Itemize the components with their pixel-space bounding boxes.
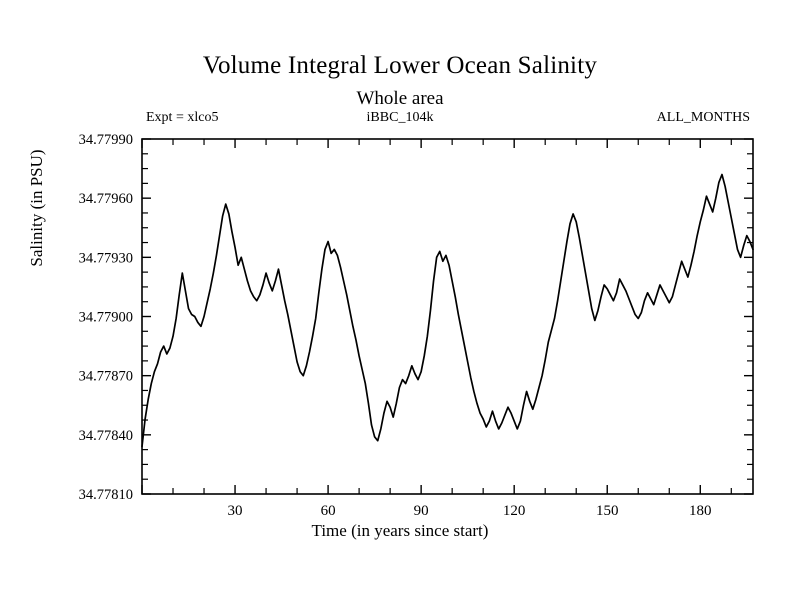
x-tick-label: 120 bbox=[503, 503, 526, 519]
x-tick-label: 180 bbox=[689, 503, 712, 519]
y-tick-label: 34.77810 bbox=[79, 487, 133, 503]
y-tick-marks bbox=[142, 139, 753, 494]
x-tick-label: 30 bbox=[228, 503, 243, 519]
plot-page: Volume Integral Lower Ocean Salinity Who… bbox=[0, 0, 800, 600]
y-tick-labels: 34.7781034.7784034.7787034.7790034.77930… bbox=[79, 132, 133, 503]
y-tick-label: 34.77870 bbox=[79, 369, 133, 385]
x-tick-labels: 306090120150180 bbox=[228, 503, 712, 519]
x-tick-label: 90 bbox=[414, 503, 429, 519]
y-tick-label: 34.77840 bbox=[79, 428, 133, 444]
y-tick-label: 34.77900 bbox=[79, 310, 133, 326]
y-tick-label: 34.77960 bbox=[79, 191, 133, 207]
x-tick-marks bbox=[142, 139, 731, 494]
y-tick-label: 34.77990 bbox=[79, 132, 133, 148]
plot-frame bbox=[142, 139, 753, 494]
x-tick-label: 60 bbox=[321, 503, 336, 519]
salinity-series-line bbox=[142, 175, 753, 447]
chart-canvas: 34.7781034.7784034.7787034.7790034.77930… bbox=[0, 0, 800, 600]
y-tick-label: 34.77930 bbox=[79, 250, 133, 266]
x-tick-label: 150 bbox=[596, 503, 619, 519]
